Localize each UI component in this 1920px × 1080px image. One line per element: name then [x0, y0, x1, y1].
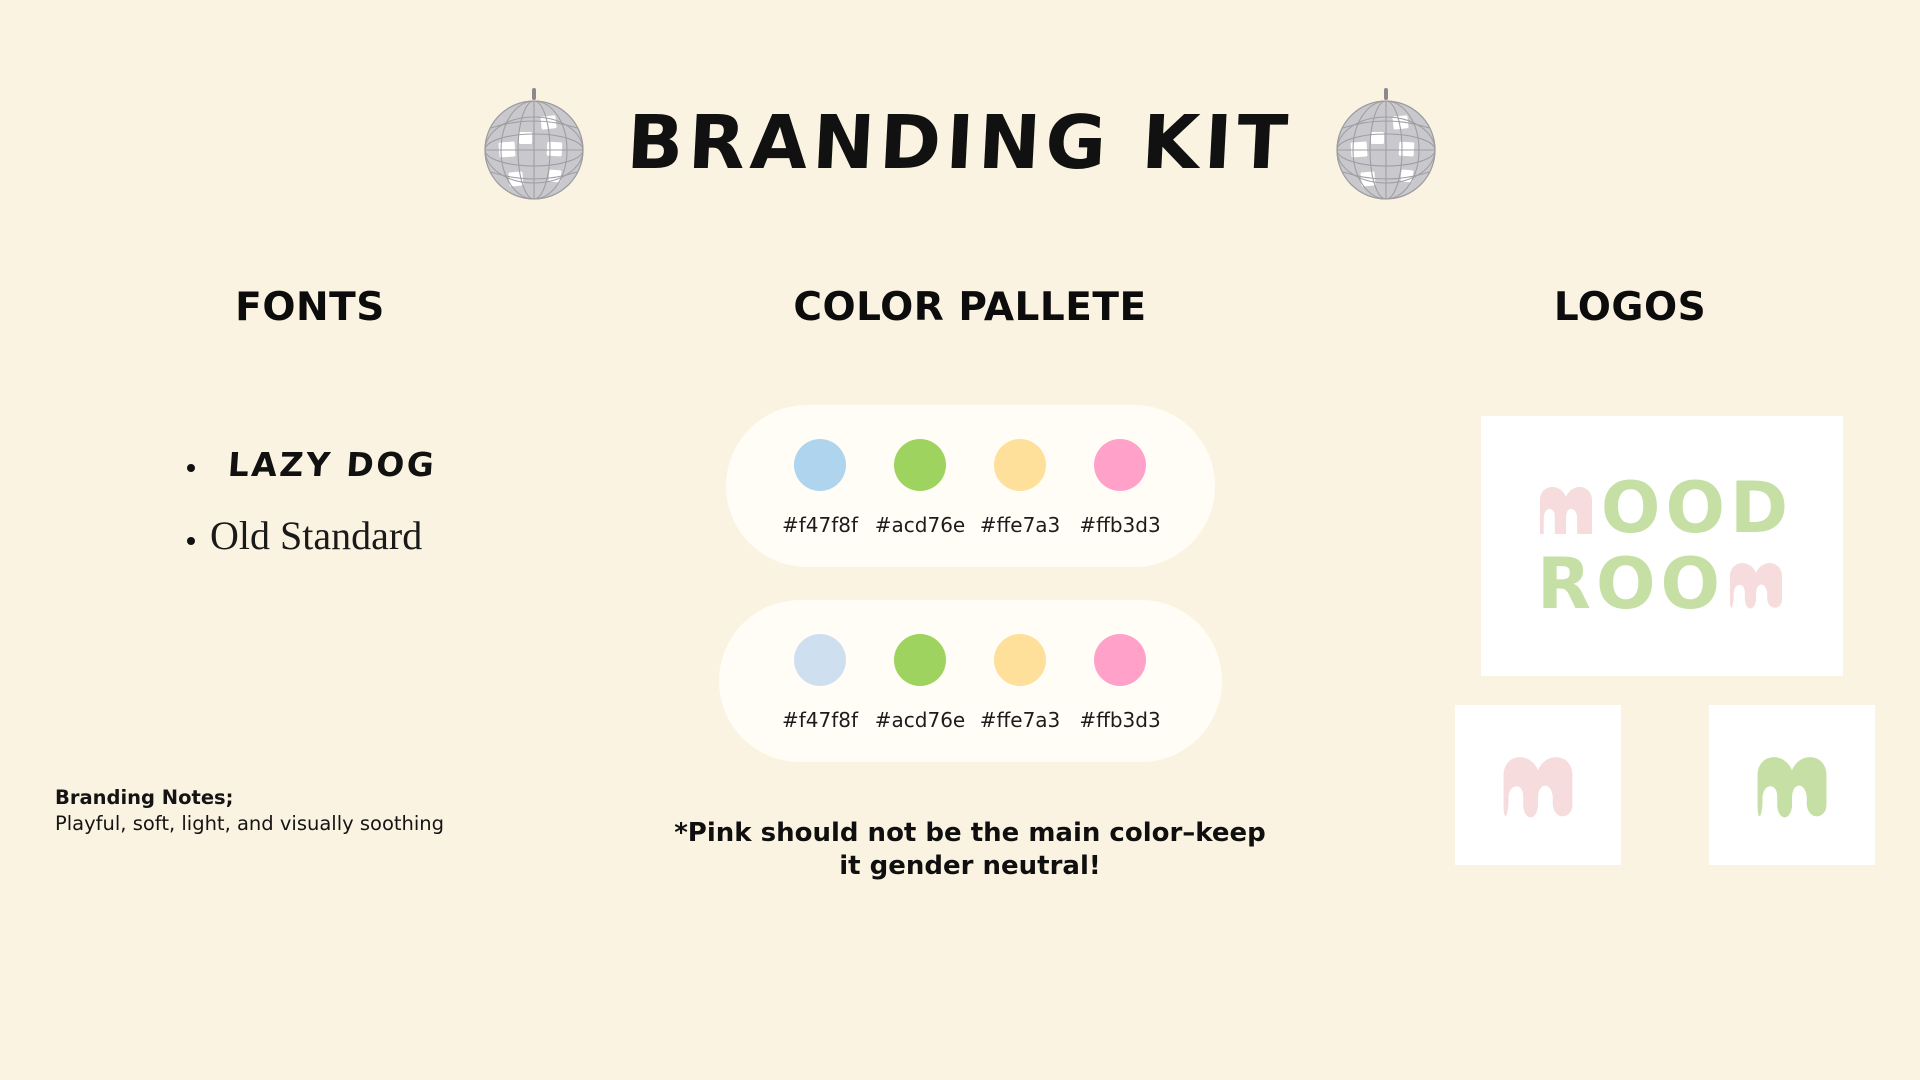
logo-letter: R	[1537, 549, 1592, 619]
swatch-hex-label: #ffb3d3	[1079, 513, 1160, 537]
page-title: BRANDING KIT	[619, 106, 1300, 180]
logo-letter: O	[1665, 473, 1726, 543]
swatch-dot	[794, 634, 846, 686]
logo-tile-green[interactable]	[1709, 705, 1875, 865]
swatch-dot	[1094, 439, 1146, 491]
palette-row-1: #f47f8f #acd76e #ffe7a3 #ffb3d3	[726, 405, 1215, 567]
swatch-hex-label: #ffe7a3	[980, 513, 1061, 537]
mood-m-mark-icon	[1535, 477, 1597, 539]
swatch-dot	[994, 634, 1046, 686]
mood-m-mark-icon	[1725, 553, 1787, 615]
branding-notes-body: Playful, soft, light, and visually sooth…	[55, 811, 525, 837]
swatch[interactable]: #ffb3d3	[1081, 439, 1159, 537]
swatch[interactable]: #acd76e	[881, 634, 959, 732]
swatch[interactable]: #acd76e	[881, 439, 959, 537]
swatch-hex-label: #acd76e	[875, 513, 965, 537]
swatch-hex-label: #f47f8f	[782, 708, 858, 732]
swatch-row-2: #f47f8f #acd76e #ffe7a3 #ffb3d3	[781, 634, 1159, 732]
branding-notes-title: Branding Notes;	[55, 785, 525, 811]
swatch[interactable]: #ffb3d3	[1081, 634, 1159, 732]
font-list-item-lazy-dog: LAZY DOG	[210, 445, 560, 484]
palette-note: *Pink should not be the main color–keep …	[600, 817, 1340, 884]
font-sample-old-standard: Old Standard	[210, 512, 422, 559]
logo-letter: O	[1601, 473, 1662, 543]
swatch-hex-label: #acd76e	[875, 708, 965, 732]
logo-line-1: O O D	[1535, 471, 1789, 545]
palette-row-2: #f47f8f #acd76e #ffe7a3 #ffb3d3	[719, 600, 1222, 762]
swatch-hex-label: #ffe7a3	[980, 708, 1061, 732]
disco-ball-stem-right	[1384, 88, 1388, 100]
header: BRANDING KIT	[0, 78, 1920, 208]
disco-ball-icon-left	[475, 84, 593, 202]
swatch[interactable]: #ffe7a3	[981, 634, 1059, 732]
swatch-hex-label: #ffb3d3	[1079, 708, 1160, 732]
mood-m-mark-icon	[1751, 744, 1833, 826]
swatch-dot	[794, 439, 846, 491]
palette-section: COLOR PALLETE #f47f8f #acd76e #ffe7a3	[600, 285, 1340, 884]
font-sample-lazy-dog: LAZY DOG	[209, 445, 438, 484]
swatch[interactable]: #ffe7a3	[981, 439, 1059, 537]
palette-heading: COLOR PALLETE	[600, 285, 1340, 330]
logo-letter: O	[1660, 549, 1721, 619]
mood-m-mark-icon	[1497, 744, 1579, 826]
swatch-hex-label: #f47f8f	[782, 513, 858, 537]
disco-ball-icon-right	[1327, 84, 1445, 202]
logo-tiles-row	[1455, 705, 1875, 865]
font-list-item-old-standard: Old Standard	[210, 512, 560, 559]
font-list: LAZY DOG Old Standard	[60, 445, 560, 559]
fonts-heading: FONTS	[60, 285, 560, 330]
logos-heading: LOGOS	[1400, 285, 1860, 330]
swatch[interactable]: #f47f8f	[781, 439, 859, 537]
swatch-dot	[894, 634, 946, 686]
logo-tile-pink[interactable]	[1455, 705, 1621, 865]
logo-letter: D	[1730, 473, 1789, 543]
disco-ball-stem-left	[532, 88, 536, 100]
logos-section: LOGOS O O D R O O	[1400, 285, 1860, 330]
fonts-section: FONTS LAZY DOG Old Standard	[60, 285, 560, 587]
swatch-dot	[1094, 634, 1146, 686]
branding-notes: Branding Notes; Playful, soft, light, an…	[55, 785, 525, 838]
swatch-dot	[994, 439, 1046, 491]
swatch-dot	[894, 439, 946, 491]
logo-card-main[interactable]: O O D R O O	[1481, 416, 1843, 676]
palette-stack: #f47f8f #acd76e #ffe7a3 #ffb3d3	[600, 405, 1340, 762]
swatch[interactable]: #f47f8f	[781, 634, 859, 732]
logo-line-2: R O O	[1537, 547, 1787, 621]
logo-letter: O	[1596, 549, 1657, 619]
swatch-row-1: #f47f8f #acd76e #ffe7a3 #ffb3d3	[781, 439, 1159, 537]
